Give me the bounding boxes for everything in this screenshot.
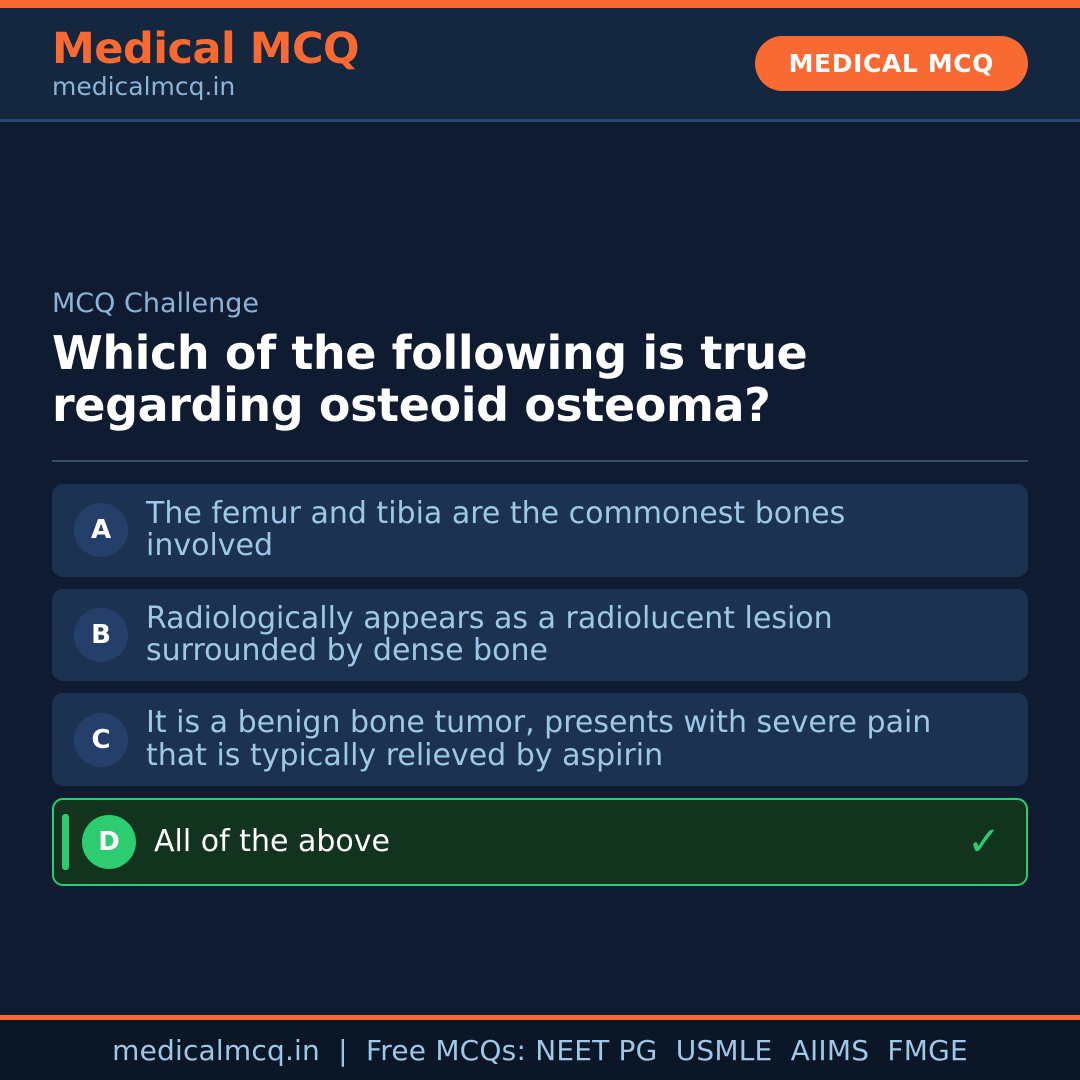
app-header: Medical MCQ medicalmcq.in MEDICAL MCQ [0, 8, 1080, 122]
brand-title: Medical MCQ [52, 27, 359, 72]
option-d[interactable]: D All of the above ✓ [52, 798, 1028, 886]
option-text: It is a benign bone tumor, presents with… [146, 707, 952, 772]
brand-block: Medical MCQ medicalmcq.in [52, 27, 359, 100]
top-accent-bar [0, 0, 1080, 8]
option-text: All of the above [154, 826, 950, 858]
option-c[interactable]: C It is a benign bone tumor, presents wi… [52, 693, 1028, 786]
option-letter-badge: B [74, 608, 128, 662]
brand-subtitle: medicalmcq.in [52, 74, 359, 100]
footer-text: medicalmcq.in | Free MCQs: NEET PG USMLE… [112, 1034, 968, 1067]
header-badge: MEDICAL MCQ [755, 36, 1028, 91]
question-eyebrow: MCQ Challenge [52, 288, 1028, 319]
question-text: Which of the following is true regarding… [52, 327, 1028, 432]
option-letter-badge: C [74, 713, 128, 767]
options-list: A The femur and tibia are the commonest … [52, 484, 1028, 886]
question-zone: MCQ Challenge Which of the following is … [52, 288, 1028, 432]
option-letter-badge: A [74, 503, 128, 557]
main-content: MCQ Challenge Which of the following is … [0, 122, 1080, 1015]
question-divider [52, 460, 1028, 462]
option-text: Radiologically appears as a radiolucent … [146, 603, 952, 668]
app-footer: medicalmcq.in | Free MCQs: NEET PG USMLE… [0, 1020, 1080, 1080]
option-b[interactable]: B Radiologically appears as a radiolucen… [52, 589, 1028, 682]
checkmark-icon: ✓ [964, 822, 1004, 862]
correct-accent-bar [62, 814, 69, 870]
option-letter-badge: D [82, 815, 136, 869]
option-a[interactable]: A The femur and tibia are the commonest … [52, 484, 1028, 577]
option-text: The femur and tibia are the commonest bo… [146, 498, 952, 563]
